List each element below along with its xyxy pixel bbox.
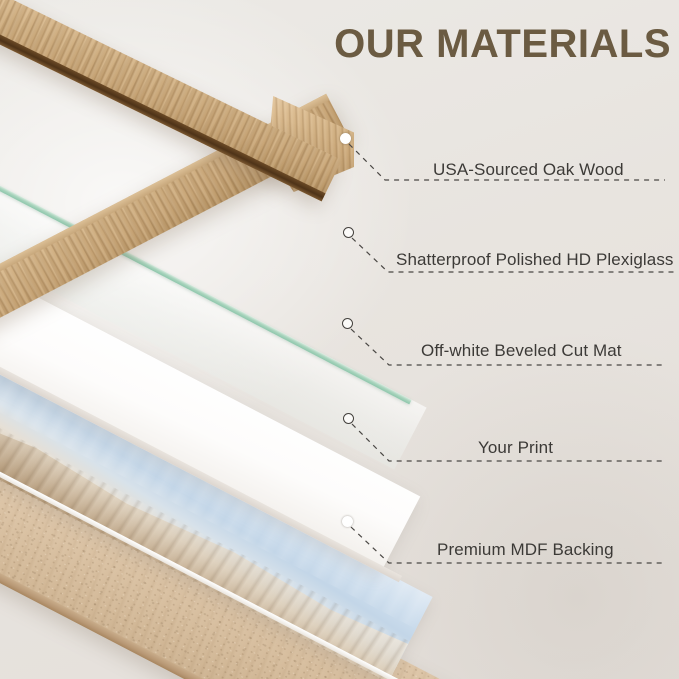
oak-frame bbox=[0, 0, 679, 679]
infographic-canvas: OUR MATERIALS USA-Sourced Oak WoodShatte… bbox=[0, 0, 679, 679]
oak-frame-rail-back-face bbox=[0, 0, 342, 201]
exploded-layer-stack bbox=[0, 0, 679, 679]
page-title: OUR MATERIALS bbox=[334, 22, 671, 67]
wood-grain-texture-fine bbox=[0, 0, 342, 201]
oak-frame-rail-back bbox=[0, 0, 342, 201]
